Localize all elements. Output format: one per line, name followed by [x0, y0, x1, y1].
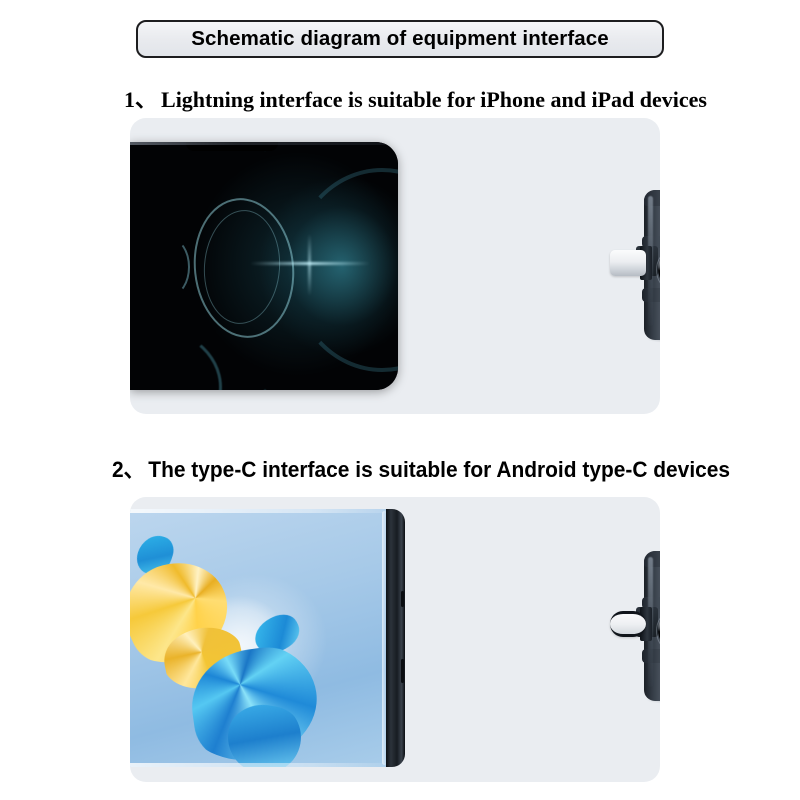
lightning-connector-icon — [610, 250, 646, 276]
android-device-image — [130, 509, 418, 767]
section-2-caption-text: The type-C interface is suitable for And… — [148, 457, 730, 482]
android-power-button — [401, 591, 404, 607]
section-1-panel — [130, 118, 660, 414]
section-2-caption: 2、The type-C interface is suitable for A… — [112, 452, 730, 484]
wallpaper-lens-flare-vertical — [308, 234, 311, 296]
section-1-caption-text: Lightning interface is suitable for iPho… — [161, 87, 707, 112]
page-title-banner: Schematic diagram of equipment interface — [136, 20, 664, 58]
section-2-panel — [130, 497, 660, 782]
android-volume-button — [401, 659, 404, 683]
section-2-number: 2、 — [112, 457, 145, 482]
android-side-frame — [386, 509, 405, 767]
android-top-highlight — [130, 509, 388, 513]
wallpaper-arc-bottom — [130, 324, 222, 390]
section-1-number: 1、 — [124, 87, 157, 112]
wallpaper-arc-small — [152, 238, 190, 296]
android-bottom-highlight — [130, 763, 388, 767]
iphone-screen-wallpaper — [130, 142, 398, 390]
section-1-caption: 1、Lightning interface is suitable for iP… — [124, 82, 707, 114]
lightning-adapter-image — [596, 184, 660, 346]
typec-connector-icon — [610, 611, 646, 637]
typec-adapter-image — [596, 545, 660, 707]
android-screen-wallpaper — [130, 509, 392, 767]
page-title: Schematic diagram of equipment interface — [191, 27, 609, 51]
iphone-top-bezel — [130, 142, 398, 145]
iphone-device-image — [130, 142, 398, 390]
